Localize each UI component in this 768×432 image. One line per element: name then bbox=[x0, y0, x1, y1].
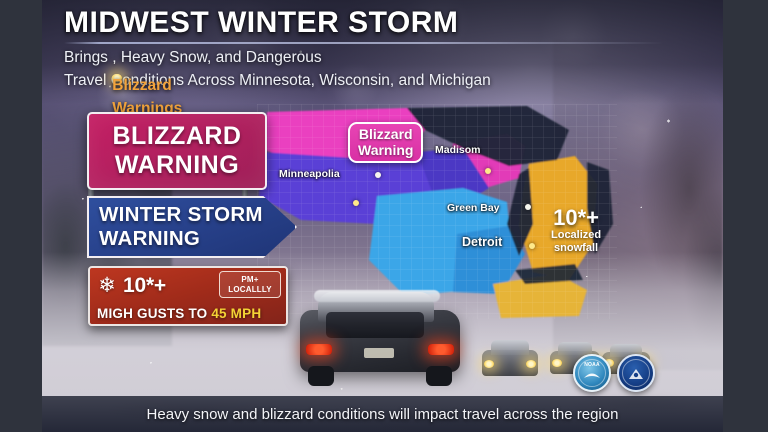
badge-line-1: Blizzard bbox=[358, 126, 413, 142]
city-label-madison: Madisom bbox=[435, 144, 481, 156]
blizzard-sign-line1: BLIZZARD bbox=[113, 122, 242, 151]
snowfall-summary-panel: ❄ 10*+ PM+ LOCALLLY MIGH GUSTS TO 45 MPH bbox=[88, 266, 288, 326]
blizzard-warning-sign: BLIZZARD WARNING bbox=[87, 112, 267, 190]
seagull-glyph bbox=[582, 367, 602, 381]
car-roof bbox=[491, 340, 529, 355]
snowfall-amount-value: 10*+ bbox=[123, 274, 166, 298]
city-label-detroit: Detroit bbox=[462, 235, 502, 249]
suv-rear-window bbox=[326, 312, 424, 338]
city-dot-minneapolis bbox=[375, 172, 381, 178]
winter-storm-sign-line2: WARNING bbox=[99, 227, 200, 251]
city-label-minneapolis: Minneapolia bbox=[279, 168, 340, 180]
snowflake-icon: ❄ bbox=[96, 275, 118, 297]
city-dot-green-bay bbox=[525, 204, 531, 210]
weather-graphic: Minneapolia Madisom Green Bay Detroit Bl… bbox=[0, 0, 768, 432]
suv-license-plate bbox=[364, 348, 394, 358]
page-title: MIDWEST WINTER STORM bbox=[64, 6, 458, 40]
map-blizzard-warning-badge: Blizzard Warning bbox=[348, 122, 423, 163]
caption-text: Heavy snow and blizzard conditions will … bbox=[147, 406, 619, 423]
city-label-green-bay: Green Bay bbox=[447, 202, 500, 214]
car-headlight-left bbox=[552, 359, 562, 367]
national-weather-service-seal-icon bbox=[617, 354, 655, 392]
winter-storm-sign-line1: WINTER STORM bbox=[99, 203, 263, 227]
wind-gusts-text: MIGH GUSTS TO 45 MPH bbox=[97, 306, 261, 321]
graphic-canvas: Minneapolia Madisom Green Bay Detroit Bl… bbox=[42, 0, 723, 432]
subtitle-prefix: Brings bbox=[64, 49, 112, 66]
title-divider bbox=[64, 42, 664, 44]
city-dot-madison bbox=[485, 168, 491, 174]
subtitle: Brings Blizzard Warnings, Heavy Snow, an… bbox=[64, 46, 684, 92]
suv-roof-snow bbox=[314, 290, 440, 302]
gusts-value: 45 MPH bbox=[211, 306, 261, 321]
letterbox-bar-right bbox=[723, 0, 768, 432]
city-dot-detroit bbox=[529, 243, 535, 249]
localized-line1: PM+ bbox=[241, 275, 258, 285]
winter-storm-warning-sign: WINTER STORM WARNING bbox=[87, 196, 297, 258]
bottom-caption-bar: Heavy snow and blizzard conditions will … bbox=[42, 396, 723, 432]
localized-line2: LOCALLLY bbox=[228, 285, 272, 295]
michigan-amount-value: 10*+ bbox=[551, 206, 601, 229]
badge-line-2: Warning bbox=[358, 142, 413, 158]
localized-amount-badge: PM+ LOCALLLY bbox=[219, 271, 281, 298]
nws-emblem-glyph bbox=[626, 367, 646, 381]
subtitle-mid: , Heavy Snow, and Dangerous bbox=[112, 49, 321, 66]
foreground-suv bbox=[300, 292, 460, 388]
gusts-prefix: MIGH GUSTS TO bbox=[97, 306, 211, 321]
suv-taillight-left bbox=[306, 344, 332, 355]
suv-wheel-right bbox=[426, 366, 452, 386]
michigan-amount-line2: snowfall bbox=[551, 242, 601, 255]
header-banner: MIDWEST WINTER STORM Brings Blizzard War… bbox=[42, 0, 723, 104]
agency-seal-group: NOAA bbox=[573, 354, 655, 392]
background-car-1 bbox=[482, 340, 538, 376]
michigan-snowfall-callout: 10*+ Localized snowfall bbox=[551, 206, 601, 254]
suv-taillight-right bbox=[428, 344, 454, 355]
michigan-amount-line1: Localized bbox=[551, 229, 601, 242]
city-dot-secondary bbox=[353, 200, 359, 206]
suv-wheel-left bbox=[308, 366, 334, 386]
subtitle-highlight: Blizzard Warnings bbox=[112, 74, 122, 82]
noaa-seal-icon: NOAA bbox=[573, 354, 611, 392]
blizzard-sign-line2: WARNING bbox=[115, 151, 239, 180]
letterbox-bar-left bbox=[0, 0, 42, 432]
